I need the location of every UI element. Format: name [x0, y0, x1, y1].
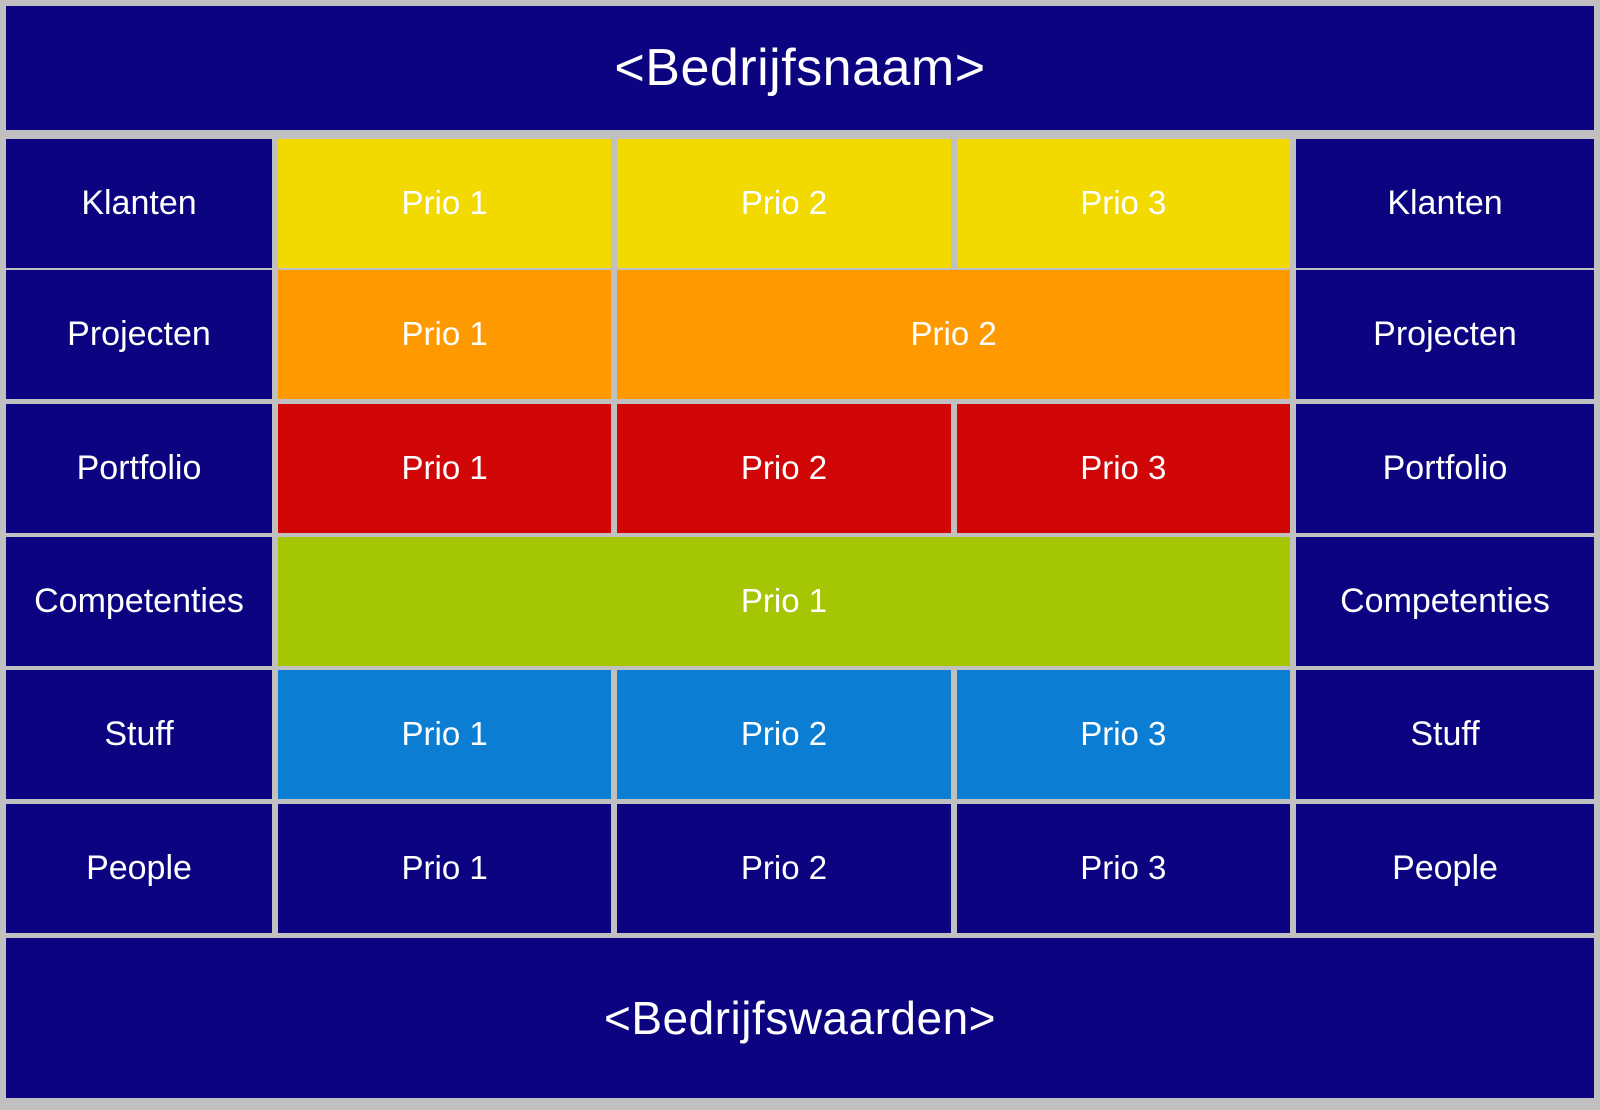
row-label-right-text: People: [1392, 851, 1498, 887]
priority-cell-label: Prio 3: [1080, 186, 1166, 221]
row-label-left[interactable]: Projecten: [6, 270, 272, 399]
row-label-left-text: People: [86, 851, 192, 887]
row-label-left-text: Portfolio: [77, 451, 202, 487]
priority-cell[interactable]: Prio 1: [278, 139, 611, 268]
priority-cell-label: Prio 3: [1080, 851, 1166, 886]
row-label-left[interactable]: People: [6, 804, 272, 933]
priority-cell-label: Prio 1: [402, 451, 488, 486]
row-label-right-text: Klanten: [1387, 186, 1502, 222]
priority-cell[interactable]: Prio 2: [617, 670, 950, 799]
priority-cell-label: Prio 1: [402, 851, 488, 886]
header-banner: <Bedrijfsnaam>: [6, 6, 1594, 130]
row-label-right[interactable]: Portfolio: [1296, 404, 1594, 533]
row-label-right[interactable]: Projecten: [1296, 270, 1594, 399]
row-label-left[interactable]: Portfolio: [6, 404, 272, 533]
priority-cell-label: Prio 1: [402, 186, 488, 221]
priority-cell-label: Prio 2: [741, 451, 827, 486]
row-label-left[interactable]: Stuff: [6, 670, 272, 799]
priority-cell[interactable]: Prio 1: [278, 404, 611, 533]
priority-cell[interactable]: Prio 2: [617, 404, 950, 533]
row-label-right[interactable]: People: [1296, 804, 1594, 933]
priority-cell[interactable]: Prio 3: [957, 670, 1290, 799]
priority-cell[interactable]: Prio 2: [617, 139, 950, 268]
row-label-left[interactable]: Competenties: [6, 537, 272, 666]
priority-cell-label: Prio 1: [402, 717, 488, 752]
priority-cell[interactable]: Prio 1: [278, 670, 611, 799]
row-label-right-text: Competenties: [1340, 584, 1550, 620]
row-label-right[interactable]: Klanten: [1296, 139, 1594, 268]
priority-cell[interactable]: Prio 1: [278, 270, 611, 399]
priority-cell-label: Prio 3: [1080, 451, 1166, 486]
company-priority-matrix: <Bedrijfsnaam> KlantenPrio 1Prio 2Prio 3…: [0, 0, 1600, 1110]
row-label-right-text: Portfolio: [1383, 451, 1508, 487]
priority-cell[interactable]: Prio 2: [617, 270, 1290, 399]
row-label-left-text: Klanten: [81, 186, 196, 222]
row-label-right[interactable]: Stuff: [1296, 670, 1594, 799]
priority-cell-label: Prio 1: [402, 317, 488, 352]
priority-cell[interactable]: Prio 1: [278, 537, 1290, 666]
row-label-right-text: Projecten: [1373, 317, 1517, 353]
row-label-left-text: Competenties: [34, 584, 244, 620]
footer-banner: <Bedrijfswaarden>: [6, 938, 1594, 1098]
priority-cell-label: Prio 3: [1080, 717, 1166, 752]
row-label-right-text: Stuff: [1410, 717, 1479, 753]
row-label-left-text: Stuff: [104, 717, 173, 753]
priority-cell-label: Prio 2: [741, 851, 827, 886]
priority-cell[interactable]: Prio 3: [957, 404, 1290, 533]
priority-cell[interactable]: Prio 1: [278, 804, 611, 933]
page-title: <Bedrijfsnaam>: [614, 41, 985, 96]
priority-cell[interactable]: Prio 2: [617, 804, 950, 933]
priority-cell[interactable]: Prio 3: [957, 804, 1290, 933]
priority-cell-label: Prio 2: [911, 317, 997, 352]
row-label-left[interactable]: Klanten: [6, 139, 272, 268]
priority-cell[interactable]: Prio 3: [957, 139, 1290, 268]
priority-cell-label: Prio 1: [741, 584, 827, 619]
priority-cell-label: Prio 2: [741, 717, 827, 752]
row-label-right[interactable]: Competenties: [1296, 537, 1594, 666]
priority-cell-label: Prio 2: [741, 186, 827, 221]
footer-title: <Bedrijfswaarden>: [604, 994, 996, 1042]
row-label-left-text: Projecten: [67, 317, 211, 353]
